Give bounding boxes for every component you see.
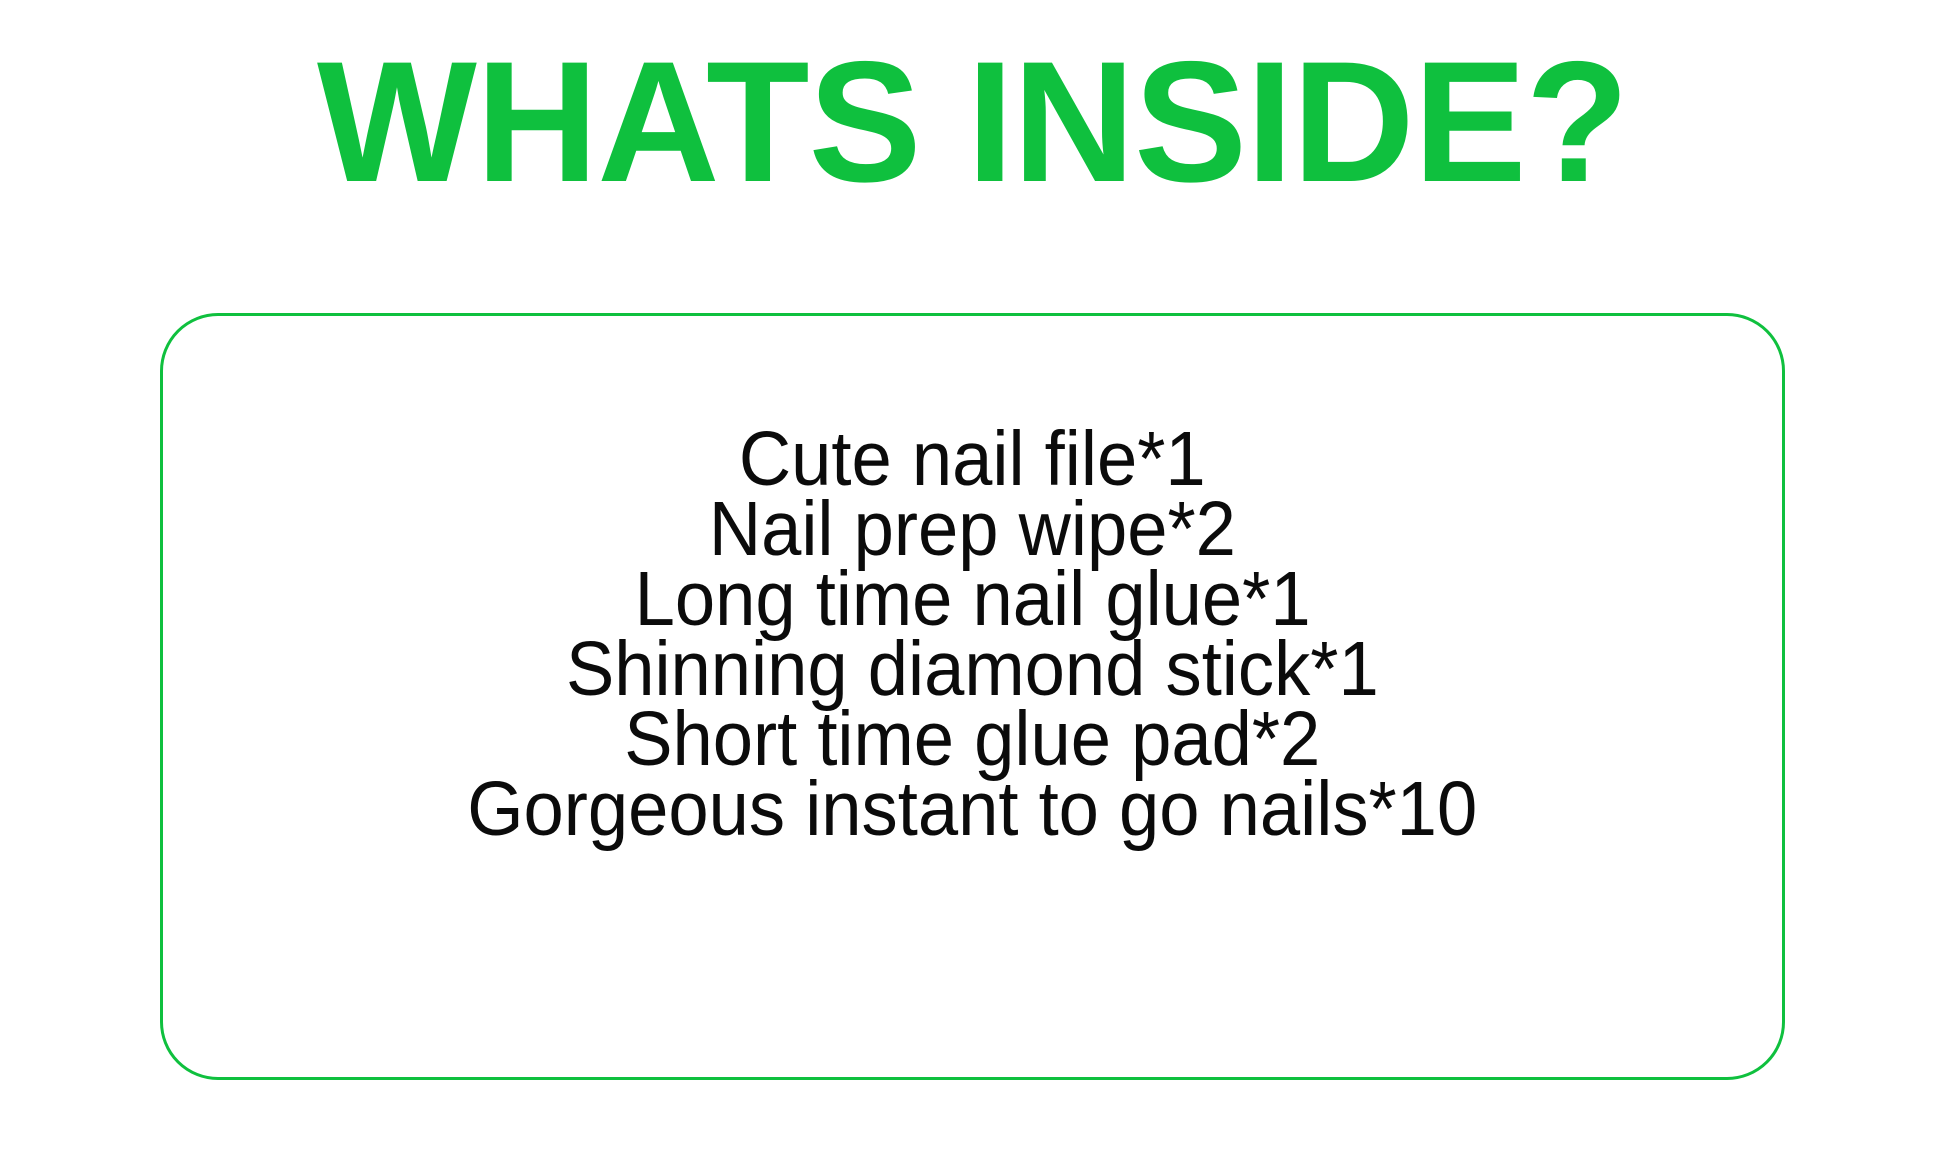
list-item: Short time glue pad*2 (624, 704, 1320, 774)
contents-list: Cute nail file*1 Nail prep wipe*2 Long t… (163, 316, 1782, 1077)
product-info-graphic: WHATS INSIDE? Cute nail file*1 Nail prep… (0, 0, 1946, 1160)
page-title: WHATS INSIDE? (317, 36, 1628, 208)
list-item: Shinning diamond stick*1 (566, 634, 1379, 704)
list-item: Nail prep wipe*2 (709, 494, 1236, 564)
title-block: WHATS INSIDE? (0, 36, 1946, 208)
list-item: Long time nail glue*1 (634, 564, 1310, 634)
list-item: Gorgeous instant to go nails*10 (468, 774, 1478, 844)
contents-panel: Cute nail file*1 Nail prep wipe*2 Long t… (160, 313, 1785, 1080)
list-item: Cute nail file*1 (739, 424, 1206, 494)
